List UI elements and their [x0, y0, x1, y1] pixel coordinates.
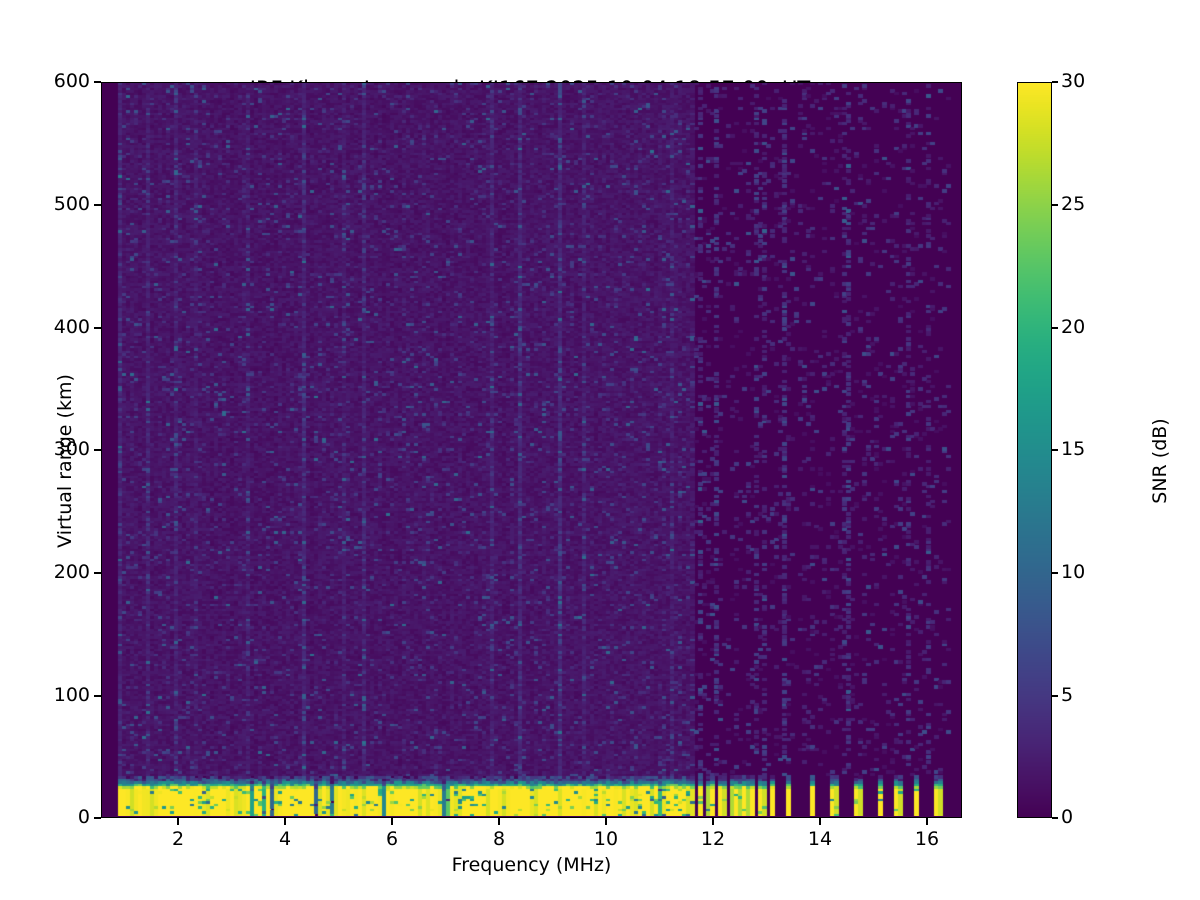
x-tick-label: 10 — [576, 828, 636, 850]
colorbar-tick-label: 15 — [1061, 438, 1085, 460]
colorbar-tick-mark — [1052, 817, 1058, 818]
colorbar-tick-label: 25 — [1061, 193, 1085, 215]
x-tick-label: 12 — [683, 828, 743, 850]
ionogram-plot-area[interactable] — [101, 82, 962, 818]
colorbar-tick-mark — [1052, 204, 1058, 205]
x-tick-mark — [284, 818, 285, 825]
y-tick-mark — [94, 81, 101, 82]
x-tick-mark — [177, 818, 178, 825]
x-tick-mark — [712, 818, 713, 825]
x-tick-label: 16 — [897, 828, 957, 850]
x-tick-mark — [819, 818, 820, 825]
colorbar-label: SNR (dB) — [1149, 301, 1171, 621]
y-tick-mark — [94, 695, 101, 696]
x-tick-mark — [605, 818, 606, 825]
colorbar-tick-label: 30 — [1061, 70, 1085, 92]
y-tick-label: 500 — [30, 193, 90, 215]
colorbar-tick-mark — [1052, 695, 1058, 696]
ionogram-figure: IRF Kiruna Ionosonde KI167 2025-10-04 18… — [0, 0, 1200, 900]
colorbar[interactable] — [1017, 82, 1052, 818]
y-tick-mark — [94, 817, 101, 818]
x-tick-mark — [498, 818, 499, 825]
y-axis-label: Virtual range (km) — [54, 301, 76, 621]
colorbar-tick-mark — [1052, 449, 1058, 450]
x-tick-label: 14 — [790, 828, 850, 850]
y-tick-mark — [94, 327, 101, 328]
colorbar-gradient — [1018, 83, 1051, 817]
y-tick-mark — [94, 572, 101, 573]
colorbar-tick-mark — [1052, 81, 1058, 82]
colorbar-tick-label: 0 — [1061, 806, 1073, 828]
colorbar-tick-label: 10 — [1061, 561, 1085, 583]
x-tick-label: 8 — [469, 828, 529, 850]
ionogram-heatmap — [102, 83, 960, 816]
y-tick-mark — [94, 449, 101, 450]
colorbar-tick-label: 5 — [1061, 684, 1073, 706]
colorbar-tick-mark — [1052, 572, 1058, 573]
y-tick-label: 100 — [30, 684, 90, 706]
colorbar-tick-mark — [1052, 327, 1058, 328]
x-tick-mark — [926, 818, 927, 825]
x-tick-label: 6 — [362, 828, 422, 850]
x-axis-label: Frequency (MHz) — [101, 854, 962, 876]
y-tick-label: 600 — [30, 70, 90, 92]
x-tick-label: 4 — [255, 828, 315, 850]
y-tick-mark — [94, 204, 101, 205]
y-tick-label: 0 — [30, 806, 90, 828]
x-tick-label: 2 — [148, 828, 208, 850]
x-tick-mark — [391, 818, 392, 825]
colorbar-tick-label: 20 — [1061, 316, 1085, 338]
